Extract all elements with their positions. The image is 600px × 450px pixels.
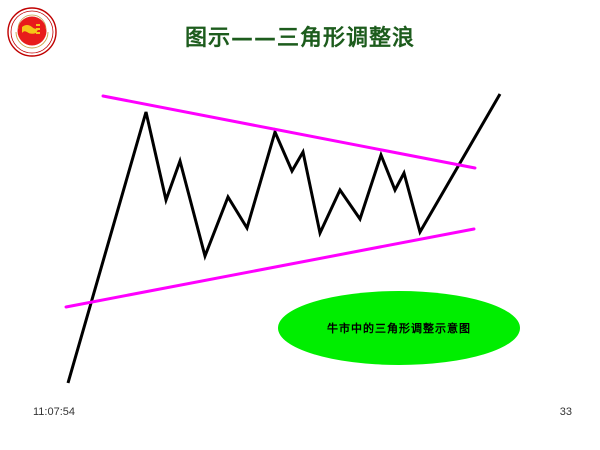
slide-canvas: 图示——三角形调整浪 牛市中的三角形调整示意图 11:07:54 33 — [0, 0, 600, 450]
triangle-correction-chart — [0, 0, 600, 450]
timestamp: 11:07:54 — [33, 406, 75, 418]
upper-trendline-resistance — [103, 96, 475, 168]
callout-label: 牛市中的三角形调整示意图 — [327, 320, 471, 336]
bull-market-callout-ellipse: 牛市中的三角形调整示意图 — [278, 291, 520, 365]
page-number: 33 — [560, 406, 572, 418]
